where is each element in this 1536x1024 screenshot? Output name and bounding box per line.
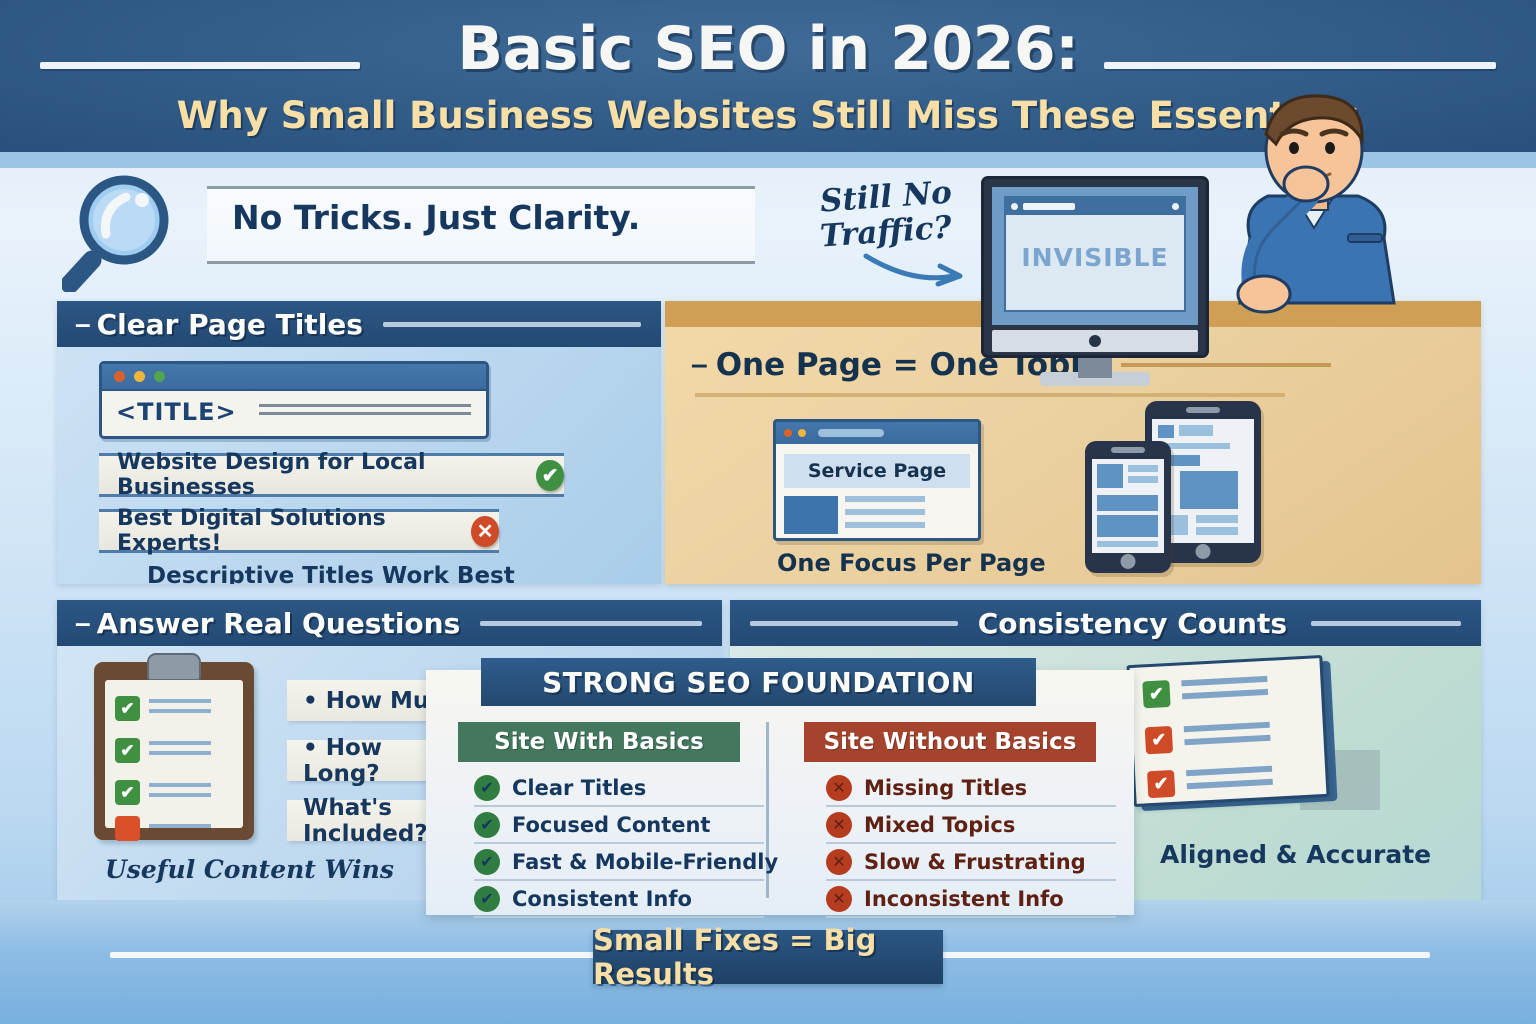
device-home-button	[1196, 544, 1211, 559]
document-lines	[1181, 675, 1268, 705]
checkbox-checked-icon: ✔	[115, 780, 140, 805]
monitor-neck	[1078, 356, 1112, 378]
checkbox-checked-icon: ✔	[115, 696, 140, 721]
checkbox-unchecked-icon	[115, 816, 140, 841]
tagline-text: No Tricks. Just Clarity.	[232, 198, 640, 237]
table-row: ✔Focused Content	[474, 807, 764, 844]
panel-title: Consistency Counts	[978, 607, 1287, 640]
panel-title: Clear Page Titles	[97, 308, 363, 341]
comparison-caption: STRONG SEO FOUNDATION	[542, 666, 975, 699]
service-page-block	[784, 496, 838, 534]
cell-label: Fast & Mobile-Friendly	[512, 850, 778, 874]
footer-plate: Small Fixes = Big Results	[593, 930, 943, 984]
cell-label: Clear Titles	[512, 776, 646, 800]
x-circle-icon: ✕	[826, 849, 852, 875]
window-address-pill	[1023, 203, 1075, 210]
checkbox-checked-icon: ✔	[115, 738, 140, 763]
panel-header-rule	[480, 621, 702, 626]
check-circle-icon: ✔	[474, 886, 500, 912]
panel-header-rule	[383, 322, 641, 327]
panel-caption: Useful Content Wins	[105, 855, 394, 884]
panel-dash: –	[75, 308, 91, 340]
document-lines	[1186, 765, 1273, 795]
table-row: ✕Inconsistent Info	[826, 881, 1116, 918]
window-dot-icon	[1011, 203, 1018, 210]
check-circle-icon: ✔	[474, 812, 500, 838]
clipboard-checklist-icon: ✔ ✔ ✔	[94, 662, 254, 840]
browser-window-titlebar	[1006, 198, 1184, 215]
title-example-label: Best Digital Solutions Experts!	[117, 506, 459, 556]
service-page-hero: Service Page	[784, 454, 970, 488]
panel-clear-page-titles: – Clear Page Titles <TITLE> Website Desi…	[57, 301, 661, 584]
document-lines	[1184, 721, 1271, 751]
device-home-button	[1121, 554, 1136, 569]
curved-arrow-icon	[862, 250, 972, 290]
table-row: ✔Clear Titles	[474, 770, 764, 807]
service-page-address-pill	[818, 429, 884, 437]
panel-header-rule	[1311, 621, 1461, 626]
cell-label: Mixed Topics	[864, 813, 1015, 837]
comparison-caption-bar: STRONG SEO FOUNDATION	[481, 658, 1036, 706]
checkbox-checked-icon: ✔	[1147, 770, 1175, 798]
thinking-person-illustration	[1198, 88, 1428, 333]
panel-header: – Answer Real Questions	[57, 600, 722, 646]
comparison-table: STRONG SEO FOUNDATION Site With Basics S…	[426, 670, 1134, 915]
cell-label: Inconsistent Info	[864, 887, 1064, 911]
panel-dash: –	[691, 348, 708, 382]
comparison-column-header-good: Site With Basics	[458, 722, 740, 762]
panel-caption: Aligned & Accurate	[1160, 840, 1431, 869]
infographic-canvas: Basic SEO in 2026: Why Small Business We…	[0, 0, 1536, 1024]
clipboard-lines	[149, 741, 211, 761]
check-circle-icon: ✔	[536, 460, 564, 491]
table-row: ✔Fast & Mobile-Friendly	[474, 844, 764, 881]
panel-title: Answer Real Questions	[97, 607, 461, 640]
browser-window-mock: INVISIBLE	[1004, 196, 1186, 312]
title-example-label: Website Design for Local Businesses	[117, 450, 524, 500]
clipboard-lines	[149, 699, 211, 719]
service-page-lines	[845, 496, 925, 535]
window-close-dot-icon	[114, 371, 125, 382]
panel-header-rule	[1121, 363, 1331, 367]
panel-header: Consistency Counts	[730, 600, 1481, 646]
footer-text: Small Fixes = Big Results	[593, 923, 943, 991]
comparison-column-label: Site With Basics	[494, 729, 704, 755]
panel-header: – Clear Page Titles	[57, 301, 661, 347]
cell-label: Missing Titles	[864, 776, 1027, 800]
title-tag-text: <TITLE>	[116, 398, 237, 426]
cell-label: Focused Content	[512, 813, 710, 837]
table-row: ✕Slow & Frustrating	[826, 844, 1116, 881]
x-circle-icon: ✕	[826, 775, 852, 801]
panel-caption: Descriptive Titles Work Best	[147, 563, 515, 584]
monitor-illustration: INVISIBLE	[981, 176, 1209, 358]
cell-label: Consistent Info	[512, 887, 692, 911]
panel-header-rule	[750, 621, 958, 626]
monitor-screen: INVISIBLE	[992, 187, 1198, 325]
check-circle-icon: ✔	[474, 775, 500, 801]
phone-mockup-icon	[1085, 441, 1171, 573]
title-tag-placeholder-lines	[259, 404, 471, 420]
x-circle-icon: ✕	[471, 516, 499, 547]
title-tag-browser-mock: <TITLE>	[99, 361, 489, 439]
clipboard-paper: ✔ ✔ ✔	[105, 680, 243, 828]
monitor-power-button	[1089, 335, 1101, 347]
table-row: ✕Mixed Topics	[826, 807, 1116, 844]
clipboard-clip	[147, 653, 201, 681]
monitor-screen-text: INVISIBLE	[1006, 243, 1184, 272]
clipboard-lines	[149, 783, 211, 803]
title-tag-row: <TITLE>	[116, 398, 471, 426]
panel-dash: –	[75, 607, 91, 639]
page-title: Basic SEO in 2026:	[0, 14, 1536, 84]
title-example-row: Best Digital Solutions Experts! ✕	[99, 509, 499, 553]
checkbox-checked-icon: ✔	[1142, 680, 1170, 708]
comparison-column-header-bad: Site Without Basics	[804, 722, 1096, 762]
window-dot-icon	[1172, 203, 1179, 210]
service-page-label: Service Page	[808, 460, 946, 482]
clipboard-lines	[149, 824, 211, 834]
title-example-row: Website Design for Local Businesses ✔	[99, 453, 564, 497]
window-minimize-dot-icon	[798, 429, 806, 437]
window-maximize-dot-icon	[154, 371, 165, 382]
table-row: ✔Consistent Info	[474, 881, 764, 918]
browser-titlebar	[102, 364, 486, 391]
phone-screen	[1092, 459, 1164, 553]
device-speaker	[1111, 447, 1145, 453]
document-checklist-icon: ✔ ✔ ✔	[1130, 660, 1340, 808]
window-minimize-dot-icon	[134, 371, 145, 382]
table-row: ✕Missing Titles	[826, 770, 1116, 807]
check-circle-icon: ✔	[474, 849, 500, 875]
panel-underline	[695, 393, 1285, 397]
window-close-dot-icon	[784, 429, 792, 437]
device-speaker	[1186, 407, 1220, 413]
x-circle-icon: ✕	[826, 886, 852, 912]
service-page-body	[776, 488, 978, 543]
magnifying-glass-icon	[62, 172, 182, 292]
checkbox-checked-icon: ✔	[1145, 726, 1173, 754]
service-page-mock: Service Page	[773, 419, 981, 541]
footer-banner: Small Fixes = Big Results	[0, 900, 1536, 1024]
x-circle-icon: ✕	[826, 812, 852, 838]
service-page-titlebar	[776, 422, 978, 444]
cell-label: Slow & Frustrating	[864, 850, 1086, 874]
panel-caption: One Focus Per Page	[777, 549, 1046, 577]
comparison-column-label: Site Without Basics	[824, 729, 1077, 755]
document-front-sheet: ✔ ✔ ✔	[1126, 655, 1329, 807]
